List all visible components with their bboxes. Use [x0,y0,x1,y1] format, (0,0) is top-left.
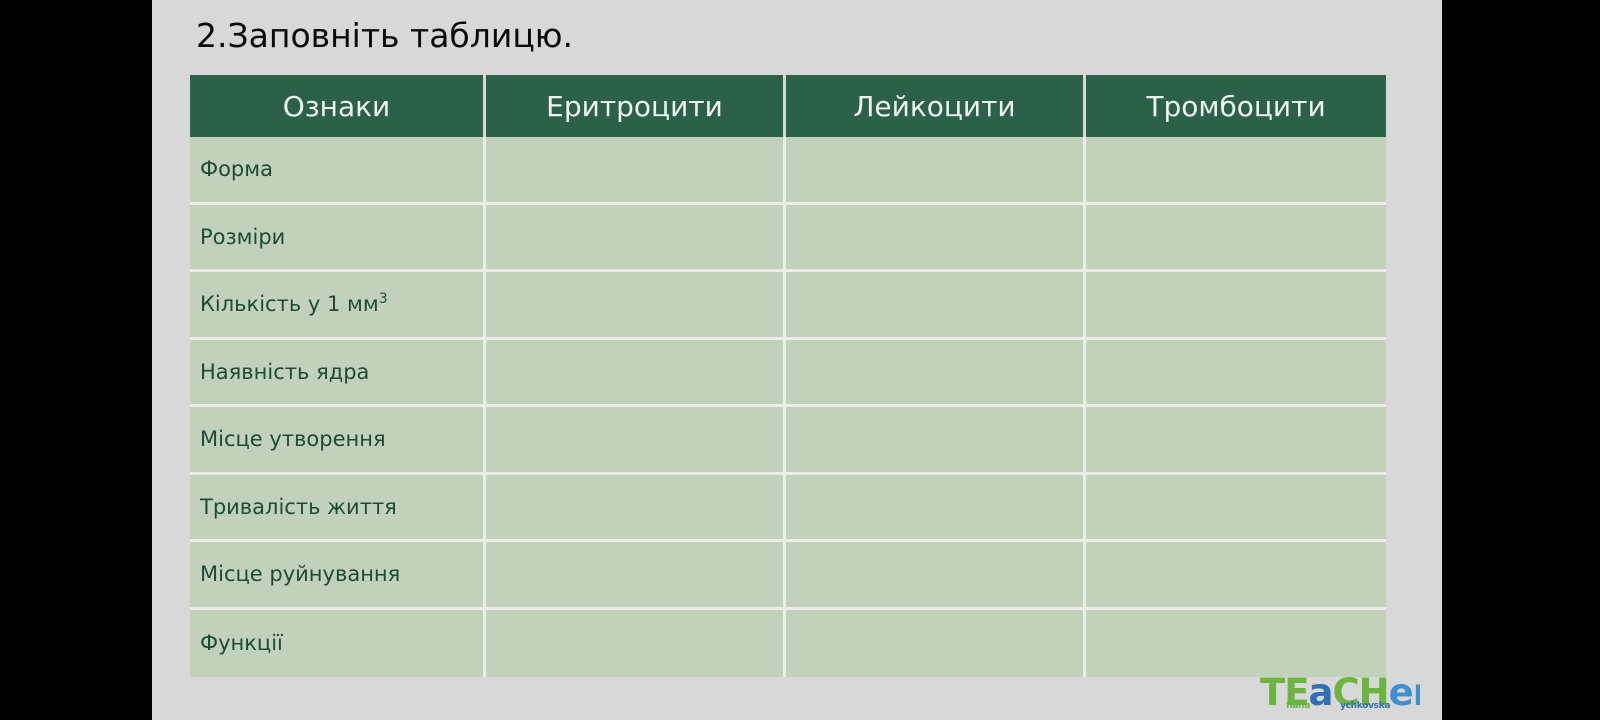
table-header: Ознаки Еритроцити Лейкоцити Тромбоцити [190,75,1386,137]
watermark-subtext-second: ychkovska [1340,701,1390,711]
row-label-size: Розміри [190,205,486,273]
cell-formation-erythrocytes[interactable] [486,407,786,475]
column-header-thrombocytes: Тромбоцити [1086,75,1386,137]
row-label-functions: Функції [190,610,486,678]
row-label-shape: Форма [190,137,486,205]
table-row: Функції [190,610,1386,678]
cell-count-thrombocytes[interactable] [1086,272,1386,340]
slide-root: 2.Заповніть таблицю. Ознаки Еритроцити Л… [0,0,1600,720]
row-label-text: Наявність ядра [200,360,369,384]
row-label-text: Місце руйнування [200,562,400,586]
teacher-watermark-logo: TEaCHer flanaychkovska [1260,673,1420,720]
table-row: Тривалість життя [190,475,1386,543]
table-row: Форма [190,137,1386,205]
table-row: Кількість у 1 мм3 [190,272,1386,340]
cell-nucleus-leukocytes[interactable] [786,340,1086,408]
cell-formation-leukocytes[interactable] [786,407,1086,475]
row-label-nucleus-presence: Наявність ядра [190,340,486,408]
row-label-text: Місце утворення [200,427,386,451]
cell-size-leukocytes[interactable] [786,205,1086,273]
cell-size-erythrocytes[interactable] [486,205,786,273]
page-title: 2.Заповніть таблицю. [196,16,573,55]
row-label-count-per-mm3: Кількість у 1 мм3 [190,272,486,340]
table-row: Розміри [190,205,1386,273]
row-label-text: Функції [200,631,283,655]
cell-functions-erythrocytes[interactable] [486,610,786,678]
cell-shape-leukocytes[interactable] [786,137,1086,205]
cell-formation-thrombocytes[interactable] [1086,407,1386,475]
watermark-subtext: flanaychkovska [1286,701,1420,711]
row-label-text: Тривалість життя [200,495,397,519]
row-label-text: Форма [200,157,273,181]
column-header-features: Ознаки [190,75,486,137]
cell-lifespan-leukocytes[interactable] [786,475,1086,543]
row-label-text: Кількість у 1 мм [200,292,379,316]
row-label-lifespan: Тривалість життя [190,475,486,543]
cell-shape-thrombocytes[interactable] [1086,137,1386,205]
row-label-superscript: 3 [379,291,388,307]
cell-nucleus-thrombocytes[interactable] [1086,340,1386,408]
letterbox-bar-left [0,0,152,720]
blood-cells-table: Ознаки Еритроцити Лейкоцити Тромбоцити Ф… [190,75,1386,677]
watermark-subtext-first: flana [1286,701,1310,711]
row-label-text: Розміри [200,225,285,249]
table-row: Місце руйнування [190,542,1386,610]
cell-size-thrombocytes[interactable] [1086,205,1386,273]
letterbox-bar-right [1442,0,1600,720]
cell-destruction-thrombocytes[interactable] [1086,542,1386,610]
cell-destruction-leukocytes[interactable] [786,542,1086,610]
table-row: Наявність ядра [190,340,1386,408]
cell-shape-erythrocytes[interactable] [486,137,786,205]
cell-nucleus-erythrocytes[interactable] [486,340,786,408]
cell-lifespan-erythrocytes[interactable] [486,475,786,543]
worksheet-table-container: Ознаки Еритроцити Лейкоцити Тромбоцити Ф… [190,75,1386,677]
cell-count-erythrocytes[interactable] [486,272,786,340]
cell-functions-leukocytes[interactable] [786,610,1086,678]
cell-count-leukocytes[interactable] [786,272,1086,340]
table-body: Форма Розміри Кількість у 1 мм3 [190,137,1386,677]
slide-surface: 2.Заповніть таблицю. Ознаки Еритроцити Л… [152,0,1442,720]
row-label-destruction-site: Місце руйнування [190,542,486,610]
column-header-erythrocytes: Еритроцити [486,75,786,137]
cell-destruction-erythrocytes[interactable] [486,542,786,610]
cell-functions-thrombocytes[interactable] [1086,610,1386,678]
table-header-row: Ознаки Еритроцити Лейкоцити Тромбоцити [190,75,1386,137]
cell-lifespan-thrombocytes[interactable] [1086,475,1386,543]
row-label-formation-site: Місце утворення [190,407,486,475]
column-header-leukocytes: Лейкоцити [786,75,1086,137]
table-row: Місце утворення [190,407,1386,475]
